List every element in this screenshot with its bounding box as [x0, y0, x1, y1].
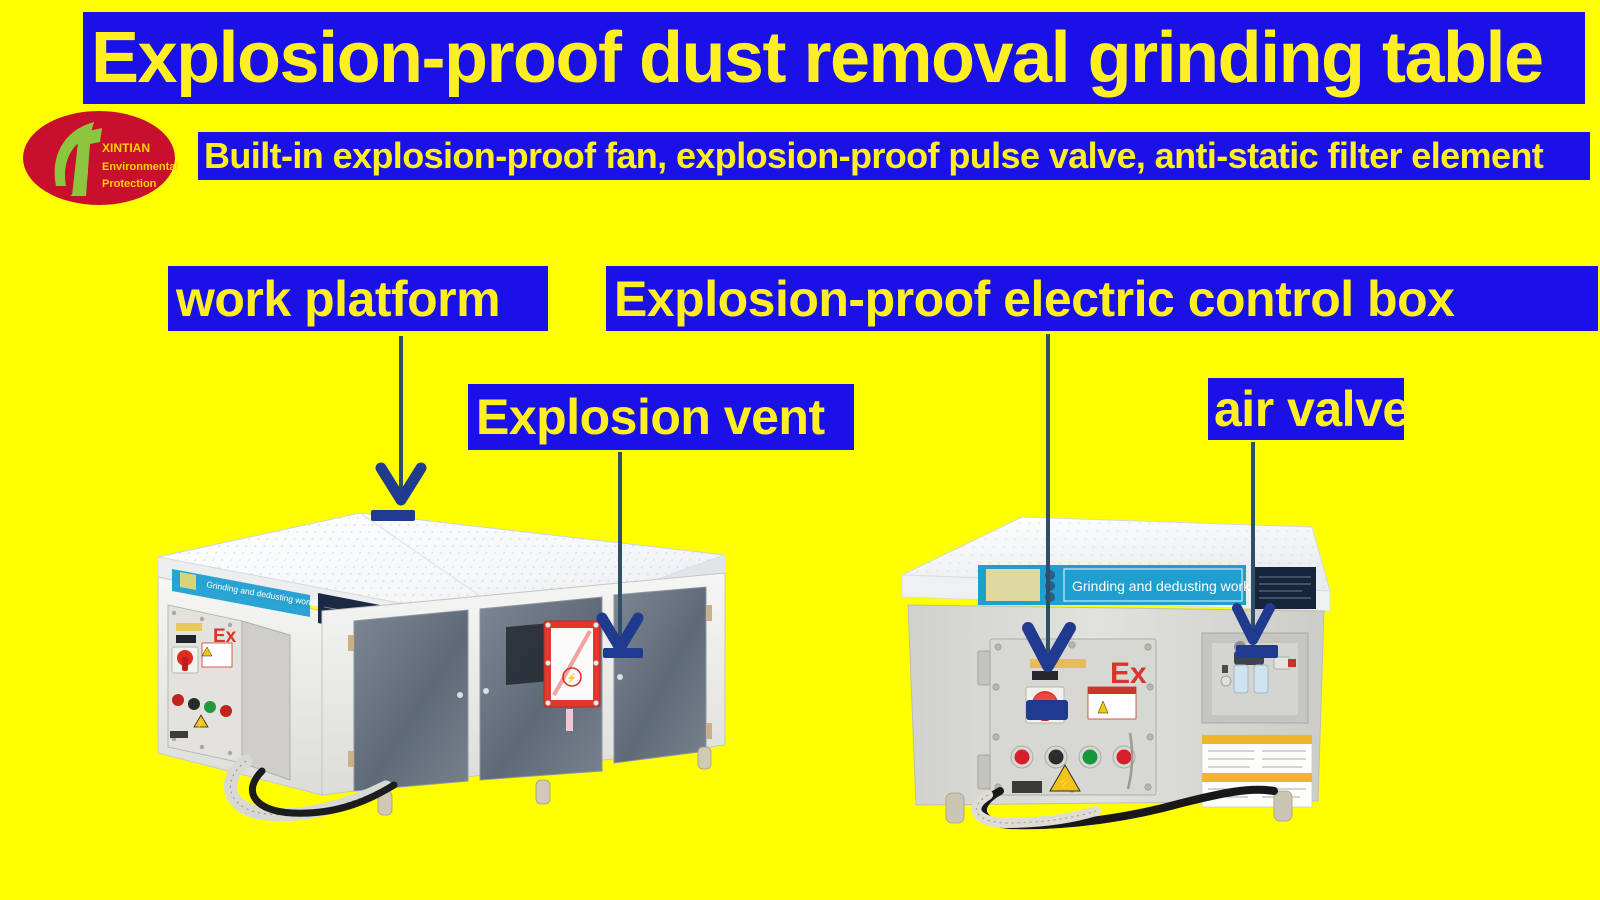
arrow-explosion-vent [602, 452, 638, 648]
page-title: Explosion-proof dust removal grinding ta… [83, 12, 1585, 104]
marker-dash-control-box [1026, 700, 1068, 720]
page-subtitle: Built-in explosion-proof fan, explosion-… [198, 132, 1590, 180]
arrow-control-box [1028, 334, 1070, 666]
callout-label-work-platform: work platform [168, 266, 548, 331]
logo-line3: Protection [102, 178, 157, 190]
company-logo: XINTIAN Environmental Protection [20, 108, 178, 208]
marker-dash-work-platform [371, 510, 415, 521]
logo-line2: Environmental [102, 161, 178, 173]
marker-dash-air-valve [1236, 645, 1278, 658]
arrow-work-platform [381, 336, 421, 500]
callout-label-air-valve: air valve [1208, 378, 1404, 440]
logo-brand: XINTIAN [102, 141, 150, 155]
callout-label-control-box: Explosion-proof electric control box [606, 266, 1598, 331]
arrow-air-valve [1237, 442, 1270, 640]
marker-dash-explosion-vent [603, 648, 643, 658]
callout-label-explosion-vent: Explosion vent [468, 384, 854, 450]
poster-canvas: Grinding and dedusting workbench Ex [0, 0, 1600, 900]
logo-ellipse [23, 111, 175, 205]
